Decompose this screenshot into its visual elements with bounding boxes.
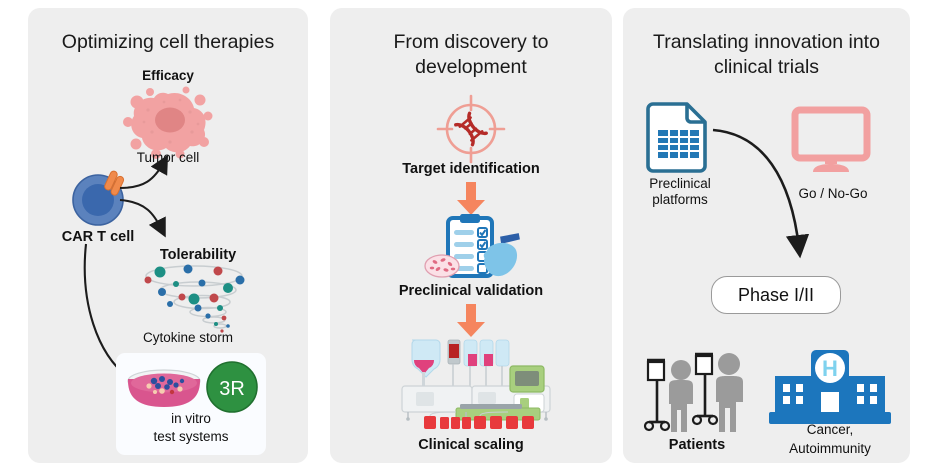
panel2-title-line1: From discovery to xyxy=(330,30,612,55)
orange-down-arrow-2 xyxy=(456,304,486,338)
patients-label: Patients xyxy=(633,436,761,454)
panel-optimizing-cell-therapies: Optimizing cell therapies Efficacy xyxy=(28,8,308,463)
preclinical-validation-label: Preclinical validation xyxy=(330,282,612,300)
orange-down-arrow-1 xyxy=(456,182,486,216)
3r-badge-icon: 3R xyxy=(204,359,260,415)
in-vitro-label-2: test systems xyxy=(116,429,266,446)
hospital-h-letter: H xyxy=(822,356,838,381)
tolerability-label: Tolerability xyxy=(118,246,278,264)
petri-dish-icon xyxy=(124,365,204,411)
target-identification-label: Target identification xyxy=(330,160,612,178)
phase-badge[interactable]: Phase I/II xyxy=(711,276,841,314)
hospital-icon: H xyxy=(765,346,895,426)
figure-canvas: Optimizing cell therapies Efficacy xyxy=(0,0,938,475)
panel2-title-line2: development xyxy=(330,55,612,80)
target-crosshair-dna-icon xyxy=(436,94,506,164)
3r-badge-text: 3R xyxy=(219,378,245,400)
arrow-to-efficacy xyxy=(120,162,164,188)
in-vitro-box: 3R in vitro test systems xyxy=(116,353,266,455)
indication-label-1: Cancer, xyxy=(765,422,895,439)
indication-label-2: Autoimmunity xyxy=(765,441,895,458)
clipboard-checklist-icon xyxy=(426,214,522,286)
bioreactor-icon xyxy=(398,338,548,430)
patients-iv-icon xyxy=(639,346,757,438)
clinical-scaling-label: Clinical scaling xyxy=(330,436,612,454)
panel-discovery-to-development: From discovery to development xyxy=(330,8,612,463)
arrow-to-tolerability xyxy=(120,200,162,230)
small-petri-dish xyxy=(425,255,459,277)
in-vitro-label-1: in vitro xyxy=(116,411,266,428)
cytokine-storm-label: Cytokine storm xyxy=(98,330,278,347)
cytokine-storm-icon xyxy=(136,264,266,336)
panel-translating-innovation: Translating innovation into clinical tri… xyxy=(623,8,910,463)
